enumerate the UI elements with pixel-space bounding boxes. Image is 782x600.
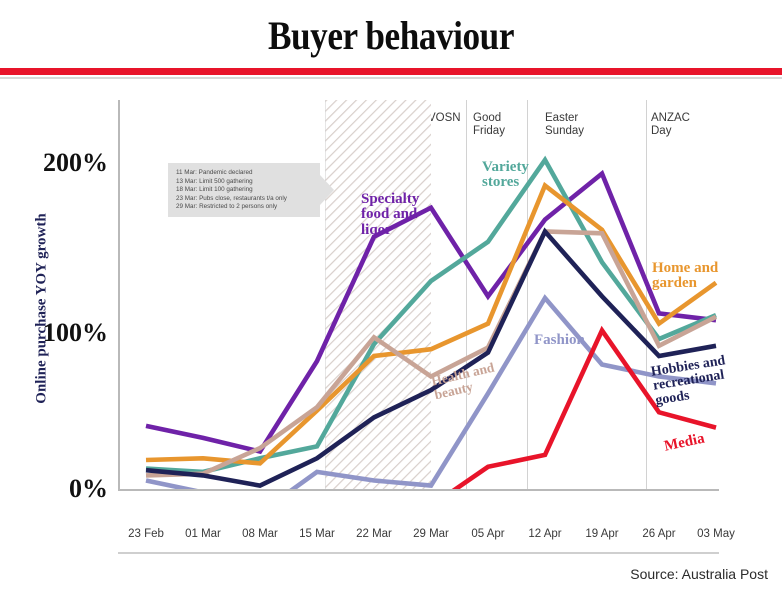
chart-page: Buyer behaviour Online purchase YOY grow… <box>0 0 782 600</box>
annotation-line-5: 29 Mar: Restricted to 2 persons only <box>176 203 326 212</box>
series-label-home-and-garden: Home and garden <box>652 261 718 292</box>
series-label-hobbies-and-recreational-goods: Hobbies and recreational goods <box>650 354 731 408</box>
annotation-line-2: 13 Mar: Limit 500 gathering <box>176 178 326 187</box>
page-title: Buyer behaviour <box>47 12 735 59</box>
source-note: Source: Australia Post <box>630 566 768 582</box>
annotation-line-1: 11 Mar: Pandemic declared <box>176 169 326 178</box>
y-tick-200: 200% <box>16 148 108 178</box>
chart-plot-area <box>118 100 718 489</box>
x-axis-line <box>118 489 719 491</box>
shaded-restriction-region <box>326 100 431 489</box>
annotation-line-3: 18 Mar: Limit 100 gathering <box>176 186 326 195</box>
header-sub-rule <box>0 77 782 79</box>
y-tick-0: 0% <box>16 474 108 504</box>
y-axis-title: Online purchase YOY growth <box>34 159 51 459</box>
x-tick-10: 03 May <box>681 528 751 540</box>
series-label-variety-stores: Variety stores <box>482 160 529 191</box>
annotation-text: 11 Mar: Pandemic declared 13 Mar: Limit … <box>176 169 326 212</box>
footer-divider <box>118 552 719 554</box>
series-label-fashion: Fashion <box>534 333 585 348</box>
series-label-specialty-food-and-liqor: Specialty food and liqor <box>361 192 419 238</box>
header-accent-rule <box>0 68 782 75</box>
annotation-line-4: 23 Mar: Pubs close, restaurants t/a only <box>176 195 326 204</box>
y-tick-100: 100% <box>16 318 108 348</box>
